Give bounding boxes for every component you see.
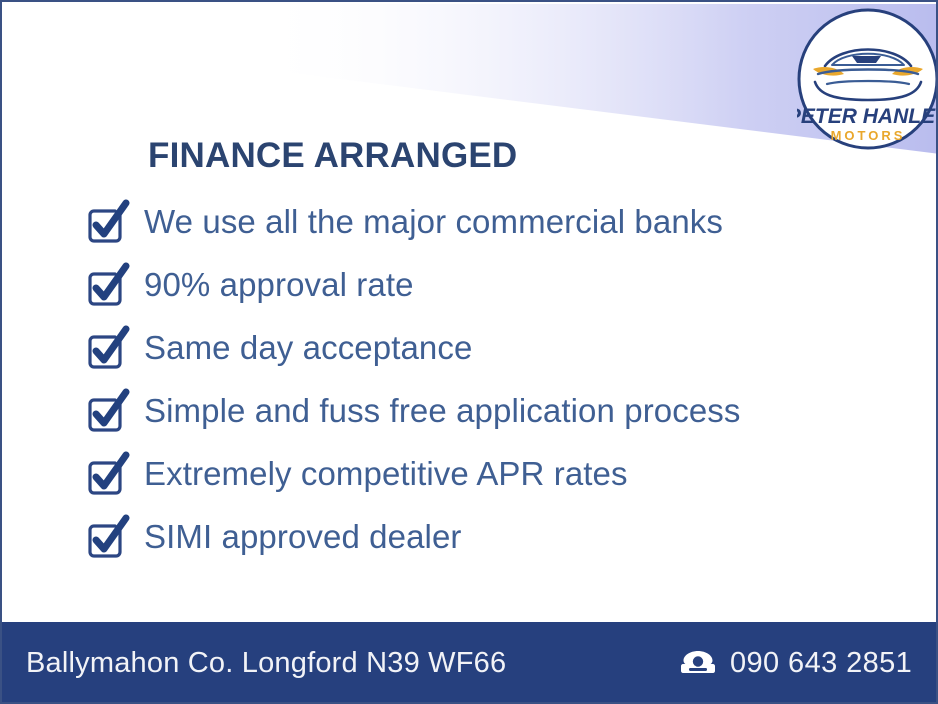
- phone-contact[interactable]: 090 643 2851: [680, 647, 912, 680]
- checkbox-checked-icon: [82, 198, 130, 246]
- list-item: We use all the major commercial banks: [82, 190, 882, 253]
- logo-brand-name: PETER HANLEY: [797, 105, 938, 128]
- checkbox-checked-icon: [82, 450, 130, 498]
- checkbox-checked-icon: [82, 324, 130, 372]
- logo-brand-subtitle: MOTORS: [831, 128, 906, 143]
- list-item-label: SIMI approved dealer: [144, 520, 462, 553]
- checkbox-checked-icon: [82, 387, 130, 435]
- checkbox-checked-icon: [82, 261, 130, 309]
- list-item-label: Simple and fuss free application process: [144, 394, 741, 427]
- telephone-icon: [680, 648, 716, 678]
- contact-bar: Ballymahon Co. Longford N39 WF66 090 643…: [0, 622, 938, 704]
- list-item-label: Extremely competitive APR rates: [144, 457, 628, 490]
- list-item: SIMI approved dealer: [82, 505, 882, 568]
- list-item-label: 90% approval rate: [144, 268, 414, 301]
- finance-advert-banner: PETER HANLEY MOTORS FINANCE ARRANGED We …: [0, 0, 938, 704]
- phone-number: 090 643 2851: [730, 647, 912, 680]
- features-list: We use all the major commercial banks 90…: [82, 190, 882, 568]
- dealer-logo: PETER HANLEY MOTORS: [797, 4, 938, 154]
- list-item: Simple and fuss free application process: [82, 379, 882, 442]
- list-item-label: Same day acceptance: [144, 331, 472, 364]
- list-item-label: We use all the major commercial banks: [144, 205, 723, 238]
- list-item: Same day acceptance: [82, 316, 882, 379]
- address-text: Ballymahon Co. Longford N39 WF66: [26, 647, 506, 680]
- list-item: 90% approval rate: [82, 253, 882, 316]
- page-title: FINANCE ARRANGED: [148, 136, 517, 176]
- list-item: Extremely competitive APR rates: [82, 442, 882, 505]
- checkbox-checked-icon: [82, 513, 130, 561]
